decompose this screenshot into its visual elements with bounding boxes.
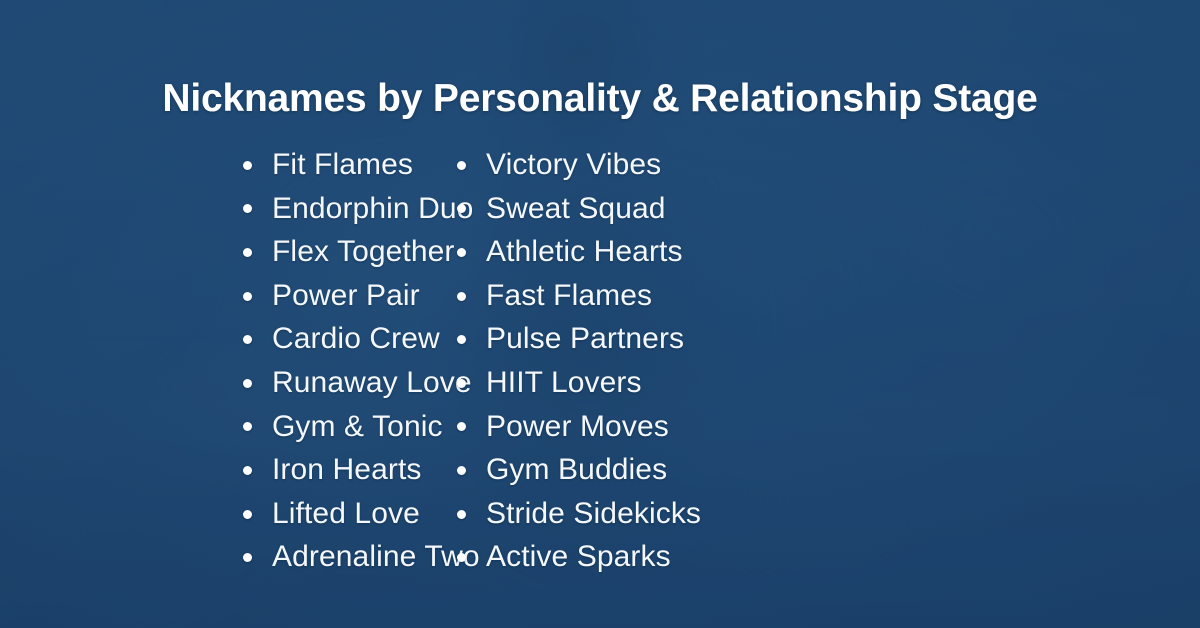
list-item: Power Pair	[243, 274, 455, 318]
list-item: Fit Flames	[243, 143, 455, 187]
list-item: HIIT Lovers	[457, 361, 1200, 405]
list-item: Lifted Love	[243, 492, 455, 536]
list-item: Cardio Crew	[243, 317, 455, 361]
list-item: Runaway Love	[243, 361, 455, 405]
list-item: Gym Buddies	[457, 448, 1200, 492]
list-item: Sweat Squad	[457, 187, 1200, 231]
nickname-infographic-card: Nicknames by Personality & Relationship …	[0, 0, 1200, 628]
list-item: Gym & Tonic	[243, 405, 455, 449]
list-item: Adrenaline Two	[243, 535, 455, 579]
list-item: Fast Flames	[457, 274, 1200, 318]
list-item: Iron Hearts	[243, 448, 455, 492]
list-item: Power Moves	[457, 405, 1200, 449]
list-item: Active Sparks	[457, 535, 1200, 579]
list-item: Stride Sidekicks	[457, 492, 1200, 536]
card-content: Nicknames by Personality & Relationship …	[0, 0, 1200, 628]
list-item: Endorphin Duo	[243, 187, 455, 231]
nickname-columns: Fit Flames Endorphin Duo Flex Together P…	[0, 143, 1200, 579]
list-item: Pulse Partners	[457, 317, 1200, 361]
nickname-column-right: Victory Vibes Sweat Squad Athletic Heart…	[455, 143, 1200, 579]
list-item: Flex Together	[243, 230, 455, 274]
list-item: Victory Vibes	[457, 143, 1200, 187]
nickname-list-right: Victory Vibes Sweat Squad Athletic Heart…	[457, 143, 1200, 579]
list-item: Athletic Hearts	[457, 230, 1200, 274]
nickname-column-left: Fit Flames Endorphin Duo Flex Together P…	[0, 143, 455, 579]
page-title: Nicknames by Personality & Relationship …	[0, 76, 1200, 122]
nickname-list-left: Fit Flames Endorphin Duo Flex Together P…	[243, 143, 455, 579]
